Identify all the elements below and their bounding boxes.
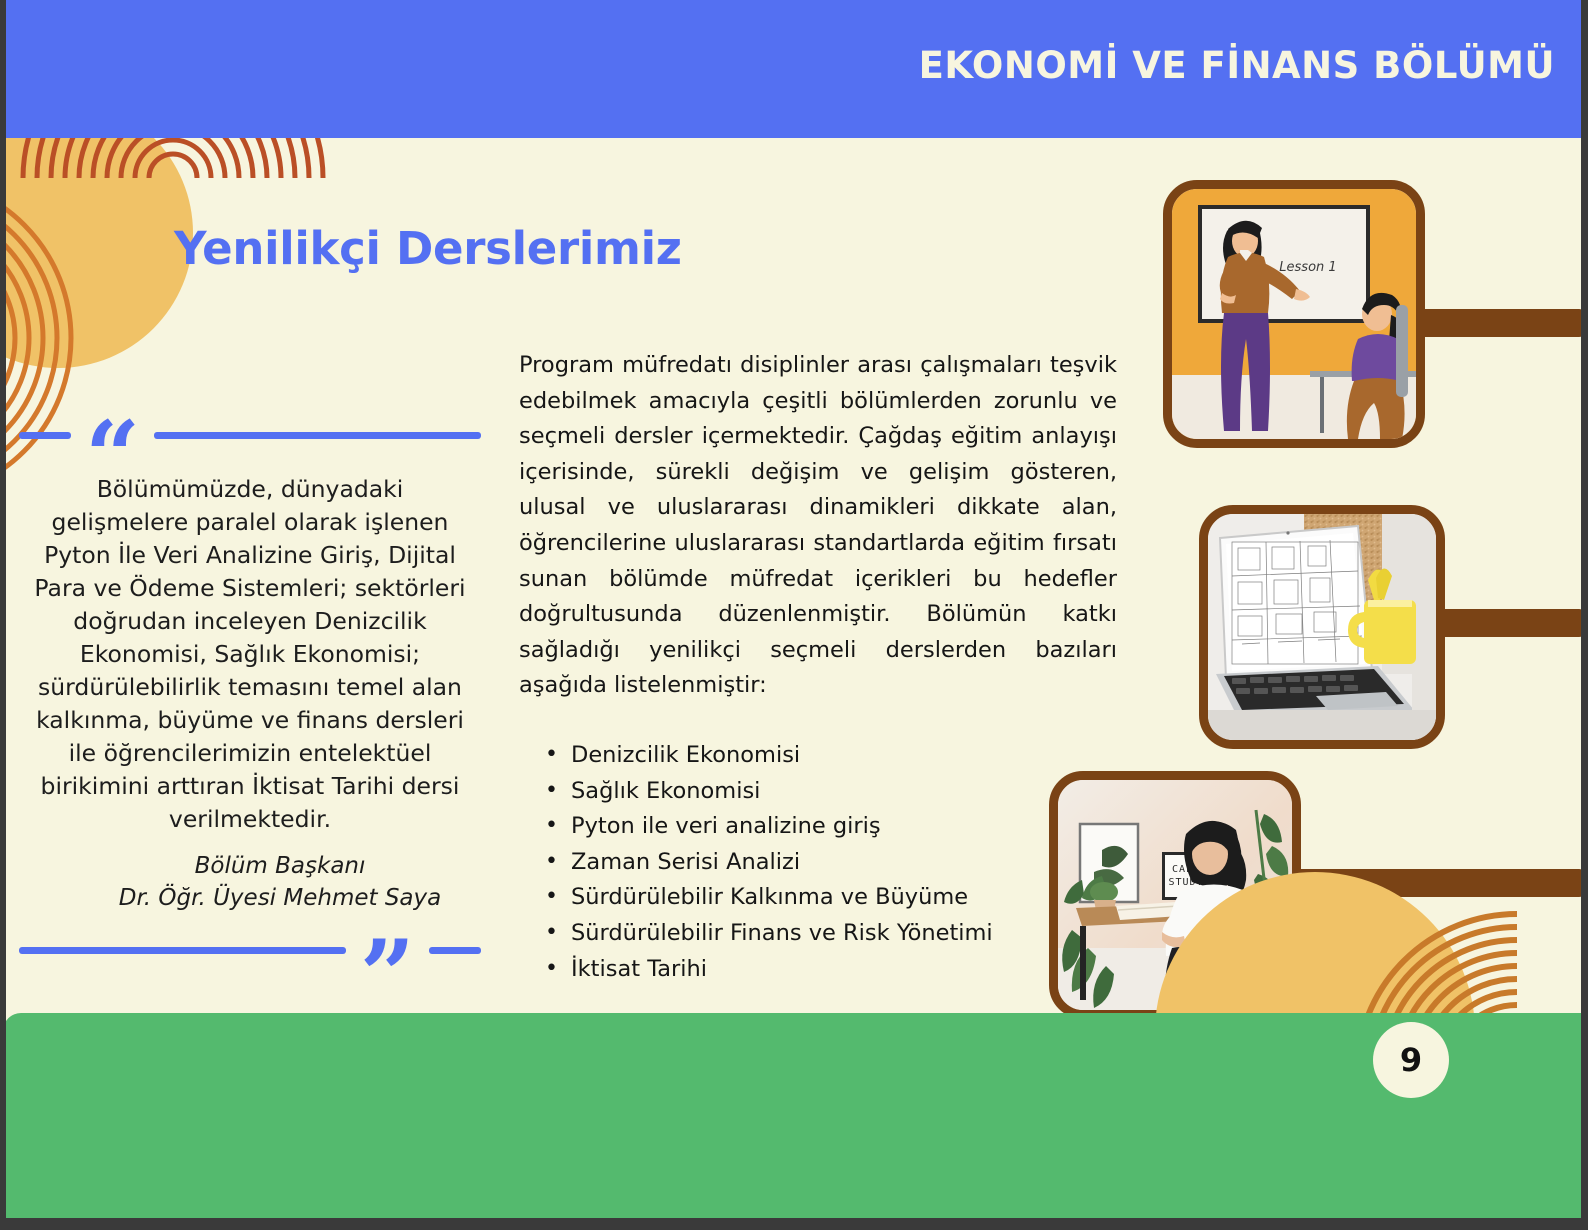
rule-dash-short [429, 947, 481, 954]
list-item: Zaman Serisi Analizi [571, 845, 1117, 881]
quote-attrib-name: Dr. Öğr. Üyesi Mehmet Saya [79, 882, 481, 914]
card-connector-bar [1294, 869, 1585, 897]
list-item: Sürdürülebilir Finans ve Risk Yönetimi [571, 916, 1117, 952]
course-list: Denizcilik Ekonomisi Sağlık Ekonomisi Py… [519, 738, 1117, 987]
section-heading: Yenilikçi Derslerimiz [174, 222, 682, 275]
list-item: Sürdürülebilir Kalkınma ve Büyüme [571, 880, 1117, 916]
card-connector-bar [1418, 309, 1585, 337]
body-paragraph: Program müfredatı disiplinler arası çalı… [519, 348, 1117, 704]
list-item: İktisat Tarihi [571, 952, 1117, 988]
image-card-laptop [1199, 505, 1445, 749]
page-number: 9 [1373, 1022, 1449, 1098]
quote-open-rule: “ [19, 415, 481, 455]
body-column: Program müfredatı disiplinler arası çalı… [519, 348, 1117, 987]
quote-attribution: Bölüm Başkanı Dr. Öğr. Üyesi Mehmet Saya [19, 850, 481, 914]
image-card-classroom: Lesson 1 [1163, 180, 1425, 448]
frame-edge-right [1581, 0, 1585, 1224]
page-canvas: EKONOMİ VE FİNANS BÖLÜMÜ [3, 0, 1585, 1224]
footer-band [3, 1013, 1585, 1218]
frame-edge-left [3, 0, 6, 1224]
list-item: Sağlık Ekonomisi [571, 774, 1117, 810]
image-card-study: CALM STUDY [1049, 771, 1301, 1019]
quote-close-rule: ” [19, 930, 481, 970]
quote-block: “ Bölümümüzde, dünyadaki gelişmelere par… [19, 415, 481, 970]
frame-edge-bottom [3, 1218, 1585, 1224]
rule-dash-long [19, 947, 346, 954]
rule-dash-short [19, 432, 71, 439]
page-title-header: EKONOMİ VE FİNANS BÖLÜMÜ [919, 44, 1555, 87]
header-band: EKONOMİ VE FİNANS BÖLÜMÜ [3, 0, 1585, 138]
quote-attrib-role: Bölüm Başkanı [79, 850, 481, 882]
list-item: Denizcilik Ekonomisi [571, 738, 1117, 774]
quote-text: Bölümümüzde, dünyadaki gelişmelere paral… [27, 473, 473, 836]
list-item: Pyton ile veri analizine giriş [571, 809, 1117, 845]
card-connector-bar [1438, 609, 1585, 637]
rule-dash-long [154, 432, 481, 439]
whiteboard-caption: Lesson 1 [1279, 260, 1336, 275]
